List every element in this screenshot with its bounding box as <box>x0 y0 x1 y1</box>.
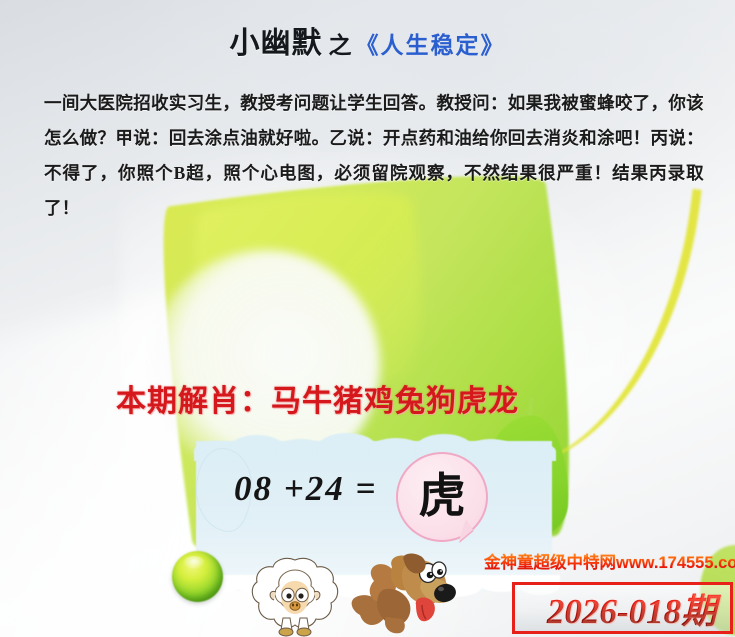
title-main-text: 小幽默 <box>230 27 323 60</box>
title-bracket-close: 》 <box>481 33 506 58</box>
equation-expression: 08 +24 = <box>234 469 377 509</box>
small-leaf-stem-icon <box>526 398 533 428</box>
lottery-poster: 小幽默之《人生稳定》 一间大医院招收实习生，教授考问题让学生回答。教授问：如果我… <box>0 0 735 637</box>
zodiac-prediction-line: 本期解肖：马牛猪鸡兔狗虎龙 <box>116 376 519 420</box>
dog-cartoon-icon <box>344 553 460 637</box>
green-sphere-gloss <box>183 556 205 569</box>
title-subtitle-text: 人生稳定 <box>381 33 481 58</box>
equation-result-text: 虎 <box>396 452 488 542</box>
issue-number-text: 2026-018期 <box>519 586 735 631</box>
site-brand-text: 金神童超级中特网www.174555.com <box>484 549 735 573</box>
page-title: 小幽默之《人生稳定》 <box>0 18 735 62</box>
joke-body-text: 一间大医院招收实习生，教授考问题让学生回答。教授问：如果我被蜜蜂咬了，你该怎么做… <box>44 86 704 226</box>
sheep-cartoon-icon <box>243 556 347 637</box>
title-bracket-open: 《 <box>356 33 381 58</box>
cloud-top-scallops <box>190 427 560 461</box>
title-connector-text: 之 <box>329 33 352 58</box>
